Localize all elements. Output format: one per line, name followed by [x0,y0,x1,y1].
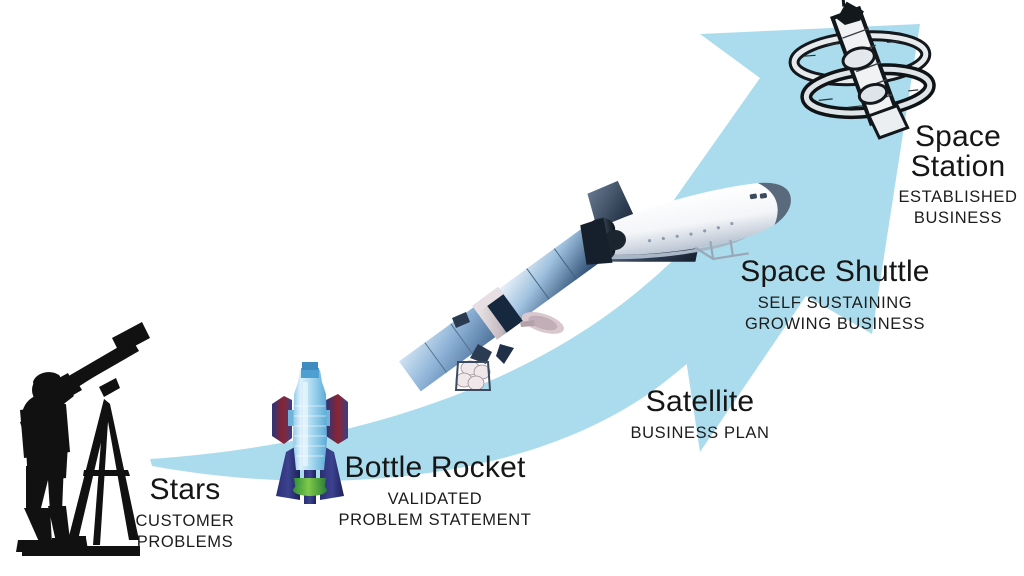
stars-subtitle-line-1: CUSTOMER [90,511,280,532]
stars-subtitle: CUSTOMER PROBLEMS [90,511,280,553]
stage-label-space-shuttle: Space Shuttle SELF SUSTAINING GROWING BU… [700,256,970,335]
bottle-rocket-subtitle-line-2: PROBLEM STATEMENT [310,510,560,531]
stars-title: Stars [90,474,280,506]
stage-label-satellite: Satellite BUSINESS PLAN [580,386,820,444]
bottle-rocket-subtitle-line-1: VALIDATED [310,489,560,510]
satellite-subtitle: BUSINESS PLAN [580,423,820,444]
space-shuttle-title: Space Shuttle [700,256,970,288]
space-station-title-line-2: Station [882,152,1024,182]
diagram-canvas: Stars CUSTOMER PROBLEMS Bottle Rocket VA… [0,0,1024,576]
satellite-title: Satellite [580,386,820,418]
bottle-rocket-title: Bottle Rocket [310,452,560,484]
space-shuttle-subtitle-line-2: GROWING BUSINESS [700,314,970,335]
stage-label-bottle-rocket: Bottle Rocket VALIDATED PROBLEM STATEMEN… [310,452,560,531]
stage-label-stars: Stars CUSTOMER PROBLEMS [90,474,280,553]
stars-subtitle-line-2: PROBLEMS [90,532,280,553]
space-shuttle-subtitle: SELF SUSTAINING GROWING BUSINESS [700,293,970,335]
bottle-rocket-subtitle: VALIDATED PROBLEM STATEMENT [310,489,560,531]
satellite-subtitle-line-1: BUSINESS PLAN [580,423,820,444]
stage-label-space-station: Space Station ESTABLISHED BUSINESS [882,122,1024,229]
space-station-title-line-1: Space [882,122,1024,152]
space-station-subtitle-line-2: BUSINESS [882,208,1024,229]
space-station-subtitle: ESTABLISHED BUSINESS [882,187,1024,229]
space-station-subtitle-line-1: ESTABLISHED [882,187,1024,208]
space-station-title: Space Station [882,122,1024,182]
space-shuttle-subtitle-line-1: SELF SUSTAINING [700,293,970,314]
